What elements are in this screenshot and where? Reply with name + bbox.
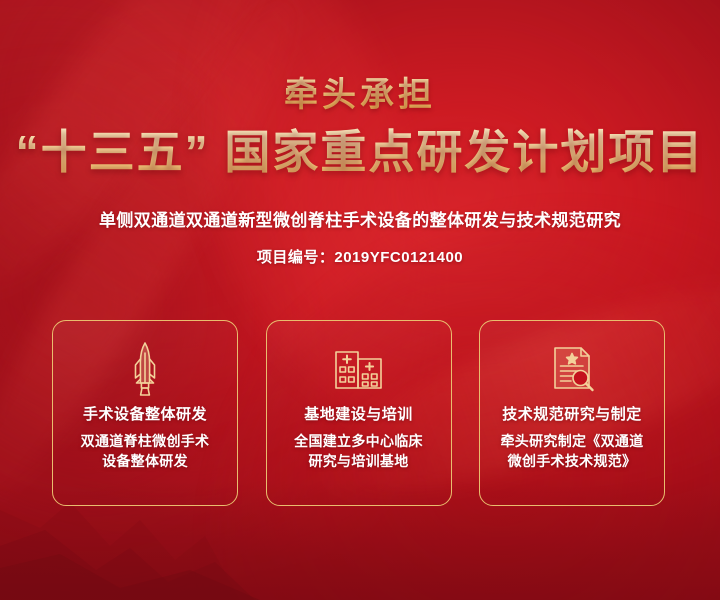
feature-card-1[interactable]: 手术设备整体研发 双通道脊柱微创手术 设备整体研发 bbox=[52, 320, 238, 506]
feature-card-2[interactable]: 基地建设与培训 全国建立多中心临床 研究与培训基地 bbox=[266, 320, 452, 506]
headline-line-2: “十三五” 国家重点研发计划项目 bbox=[0, 125, 720, 180]
feature-card-3-title: 技术规范研究与制定 bbox=[502, 403, 642, 424]
rocket-icon bbox=[128, 341, 162, 397]
project-subtitle: 单侧双通道双通道新型微创脊柱手术设备的整体研发与技术规范研究 bbox=[0, 208, 720, 234]
feature-card-list: 手术设备整体研发 双通道脊柱微创手术 设备整体研发 bbox=[52, 320, 665, 506]
document-review-icon bbox=[547, 341, 597, 397]
feature-card-3-description-line-1: 牵头研究制定《双通道 bbox=[501, 431, 644, 451]
poster-banner: 牵头承担 “十三五” 国家重点研发计划项目 单侧双通道双通道新型微创脊柱手术设备… bbox=[0, 0, 720, 600]
feature-card-2-description-line-2: 研究与培训基地 bbox=[294, 451, 423, 471]
feature-card-1-title: 手术设备整体研发 bbox=[83, 403, 207, 424]
feature-card-1-description-line-2: 设备整体研发 bbox=[81, 451, 210, 471]
feature-card-3-description: 牵头研究制定《双通道 微创手术技术规范》 bbox=[491, 431, 654, 472]
feature-card-1-description-line-1: 双通道脊柱微创手术 bbox=[81, 431, 210, 451]
headline: 牵头承担 “十三五” 国家重点研发计划项目 bbox=[0, 74, 720, 180]
headline-line-1: 牵头承担 bbox=[0, 74, 720, 117]
feature-card-2-title: 基地建设与培训 bbox=[304, 403, 413, 424]
feature-card-2-description: 全国建立多中心临床 研究与培训基地 bbox=[284, 431, 433, 472]
feature-card-3[interactable]: 技术规范研究与制定 牵头研究制定《双通道 微创手术技术规范》 bbox=[479, 320, 665, 506]
feature-card-3-description-line-2: 微创手术技术规范》 bbox=[501, 451, 644, 471]
subtitle-block: 单侧双通道双通道新型微创脊柱手术设备的整体研发与技术规范研究 项目编号：2019… bbox=[0, 208, 720, 267]
hospital-building-icon bbox=[333, 341, 385, 397]
project-number: 项目编号：2019YFC0121400 bbox=[0, 246, 720, 267]
feature-card-1-description: 双通道脊柱微创手术 设备整体研发 bbox=[71, 431, 220, 472]
feature-card-2-description-line-1: 全国建立多中心临床 bbox=[294, 431, 423, 451]
